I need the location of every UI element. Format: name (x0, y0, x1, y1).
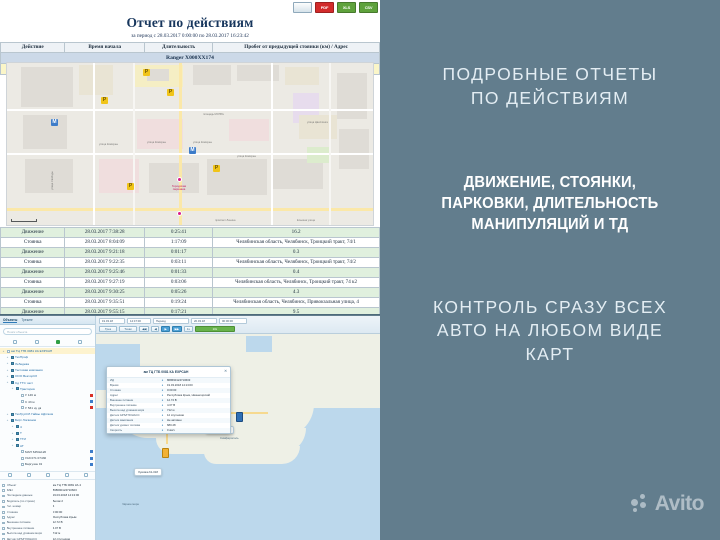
table-row[interactable]: Движение28.03.2017 9:55:150:17:219.5 (1, 308, 380, 315)
property-checkbox[interactable] (2, 484, 5, 487)
tree-node-label[interactable]: МАН 6454к120 (25, 450, 46, 454)
tree-node-label[interactable]: С 43 м (25, 400, 35, 404)
tree-node-label[interactable]: Тестовая компания (15, 368, 43, 372)
screenshot-root: PDF XLS CSV Отчет по действиям за период… (0, 0, 720, 540)
marketing-panel: ПОДРОБНЫЕ ОТЧЕТЫПО ДЕЙСТВИЯМ ДВИЖЕНИЕ, С… (380, 0, 720, 540)
cell-start: 28.03.2017 7:38:28 (65, 228, 145, 238)
cell-address: Челябинская область, Челябинск, Троицкий… (213, 238, 380, 248)
group-icon[interactable] (35, 340, 39, 344)
tree-node-label[interactable]: ТехГрупСб Гайвы АДпгком (15, 412, 53, 416)
cell-start: 28.03.2017 8:04:09 (65, 238, 145, 248)
table-row[interactable]: Движение28.03.2017 7:38:280:25:4116.2 (1, 228, 380, 238)
expand-icon[interactable] (16, 400, 19, 403)
sea-label: Чёрное море (122, 502, 139, 506)
tab-objects[interactable]: Объекты (3, 318, 17, 323)
cell-address: 0.3 (213, 248, 380, 258)
step-back-button[interactable]: ◀ (151, 326, 159, 332)
cell-address: Челябинская область, Челябинск, Троицкий… (213, 278, 380, 288)
status-badge (90, 450, 93, 453)
cell-action: Движение (1, 288, 65, 298)
tree-checkbox[interactable] (21, 450, 24, 453)
cell-address: 16.2 (213, 228, 380, 238)
headline-features: ДВИЖЕНИЕ, СТОЯНКИ,ПАРКОВКИ, ДЛИТЕЛЬНОСТЬ… (442, 172, 659, 235)
cell-duration: 0:03:06 (145, 278, 213, 288)
avito-wordmark: Avito (655, 492, 704, 516)
city-label: Симферополь (220, 436, 239, 440)
tree-checkbox[interactable] (16, 438, 19, 441)
tree-node-label[interactable]: Баргузин 01 (25, 462, 42, 466)
property-checkbox[interactable] (2, 506, 5, 509)
avito-watermark: Avito (631, 492, 704, 516)
object-info-popup[interactable]: ам ТЦ ГТБ 0081 КА ЕХРСАН ✕ ИД●8686901247… (106, 366, 231, 434)
tree-checkbox[interactable] (16, 444, 19, 447)
export-pdf-button[interactable]: PDF (315, 2, 334, 13)
table-row[interactable]: Стоянка28.03.2017 9:27:190:03:06Челябинс… (1, 278, 380, 288)
tree-checkbox[interactable] (21, 394, 24, 397)
property-checkbox[interactable] (2, 522, 5, 525)
cell-action: Движение (1, 248, 65, 258)
tree-node-label[interactable]: ТГИ (20, 437, 26, 441)
expand-icon[interactable] (16, 457, 19, 460)
time-from-input[interactable]: 14:47:00 (127, 318, 151, 324)
tree-checkbox[interactable] (11, 362, 14, 365)
cell-duration: 0:01:17 (145, 248, 213, 258)
expand-icon[interactable]: + (6, 381, 9, 384)
tree-node-label[interactable]: АТ (20, 444, 24, 448)
avito-logo-icon (631, 494, 651, 514)
table-row[interactable]: Стоянка28.03.2017 9:35:510:19:24Челябинс… (1, 298, 380, 308)
status-badge (90, 394, 93, 397)
report-screenshot: PDF XLS CSV Отчет по действиям за период… (0, 0, 380, 315)
cell-address: 0.4 (213, 268, 380, 278)
popup-rows: ИД●868690124710603Время●19.03.2018 14:13… (107, 378, 230, 433)
sidebar-action-toolbar (0, 471, 95, 480)
date-from-input[interactable]: 19.03.18 (99, 318, 125, 324)
cell-address: 4.3 (213, 288, 380, 298)
tree-checkbox[interactable] (11, 356, 14, 359)
column-header-start-time: Время начала (65, 43, 145, 53)
embedded-city-map[interactable]: P P P P P M M площадь МОПРа улица Коммун… (6, 62, 374, 226)
cell-duration: 0:17:21 (145, 308, 213, 315)
headline-maps: КОНТРОЛЬ СРАЗУ ВСЕХАВТО НА ЛЮБОМ ВИДЕКАР… (433, 296, 667, 367)
popup-row: Скорость●0 км/ч (107, 428, 230, 433)
cell-duration: 0:01:33 (145, 268, 213, 278)
status-badge (90, 457, 93, 460)
more-icon[interactable] (84, 473, 88, 477)
cell-duration: 0:25:41 (145, 228, 213, 238)
cell-start: 28.03.2017 9:21:18 (65, 248, 145, 258)
status-badge (90, 463, 93, 466)
tracker-map[interactable]: 19.03.18 14:47:00 Период 20.03.18 00:00:… (96, 316, 380, 540)
cell-start: 28.03.2017 9:25:46 (65, 268, 145, 278)
report-period-subtitle: за период с 28.03.2017 0:00:00 по 28.03.… (0, 31, 380, 42)
search-input[interactable]: Поиск объекта (3, 328, 92, 335)
points-button[interactable]: Точки (119, 326, 137, 332)
tree-node-label[interactable]: ам ТЦ ГТБ 0081 КА ЕХРСАН (11, 349, 52, 353)
tree-checkbox[interactable] (11, 419, 14, 422)
table-header-row: Действие Время начала Длительность Пробе… (1, 43, 380, 53)
tree-node-label[interactable]: Бирт Логвинов (15, 418, 36, 422)
table-row[interactable]: Стоянка28.03.2017 9:22:350:03:11Челябинс… (1, 258, 380, 268)
edit-icon[interactable] (8, 473, 12, 477)
sidebar-icon-row (0, 338, 95, 347)
headline-reports: ПОДРОБНЫЕ ОТЧЕТЫПО ДЕЙСТВИЯМ (443, 63, 658, 110)
tree-node-label[interactable]: ТехПроф (15, 355, 28, 359)
expand-icon[interactable]: + (2, 350, 5, 353)
filter-icon[interactable] (78, 340, 82, 344)
tree-checkbox[interactable] (21, 400, 24, 403)
map-scale-bar (11, 219, 37, 222)
table-row[interactable]: Движение28.03.2017 9:30:250:05:264.3 (1, 288, 380, 298)
table-row[interactable]: Стоянка28.03.2017 8:04:091:17:09Челябинс… (1, 238, 380, 248)
expand-icon[interactable] (16, 406, 19, 409)
cell-duration: 0:19:24 (145, 298, 213, 308)
cell-action: Стоянка (1, 298, 65, 308)
expand-icon[interactable]: + (6, 362, 9, 365)
tree-checkbox[interactable] (11, 413, 14, 416)
close-icon[interactable]: ✕ (224, 369, 227, 373)
expand-icon[interactable]: + (11, 438, 14, 441)
cell-start: 28.03.2017 9:22:35 (65, 258, 145, 268)
tree-node-label[interactable]: Тракторов (20, 387, 35, 391)
vehicle-marker[interactable] (236, 412, 243, 422)
cell-duration: 0:03:11 (145, 258, 213, 268)
popup-title: ам ТЦ ГТБ 0081 КА ЕХРСАН ✕ (107, 367, 230, 378)
vehicle-label-bubble[interactable]: Луковка 61-018 (134, 468, 162, 476)
playback-toolbar: 19.03.18 14:47:00 Период 20.03.18 00:00:… (96, 316, 380, 334)
report-export-toolbar: PDF XLS CSV (293, 1, 378, 14)
tree-checkbox[interactable] (16, 425, 19, 428)
cell-duration: 1:17:09 (145, 238, 213, 248)
cell-start: 28.03.2017 9:55:15 (65, 308, 145, 315)
tree-node[interactable]: Баргузин 01 (0, 461, 95, 467)
status-badge (90, 400, 93, 403)
tree-checkbox[interactable] (7, 350, 10, 353)
speed-1x-button[interactable]: 1x (184, 326, 193, 332)
speed-10x-button[interactable]: 10x (195, 326, 235, 332)
tree-node-label[interactable]: ООО ВекторСХ (15, 374, 37, 378)
print-button[interactable] (293, 2, 312, 13)
table-row[interactable]: Движение28.03.2017 9:21:180:01:170.3 (1, 248, 380, 258)
cell-action: Движение (1, 228, 65, 238)
status-dot-icon: ● (160, 428, 165, 433)
vehicle-marker[interactable] (162, 448, 169, 458)
tree-node-label[interactable]: Т (20, 431, 22, 435)
cell-action: Движение (1, 308, 65, 315)
tree-node-label[interactable]: У 531 ну дв (25, 406, 41, 410)
report-table-continued: Движение28.03.2017 7:38:280:25:4116.2Сто… (0, 227, 380, 315)
cell-action: Движение (1, 268, 65, 278)
play-button[interactable]: ▶ (161, 326, 169, 332)
expand-icon[interactable]: + (6, 419, 9, 422)
export-csv-button[interactable]: CSV (359, 2, 378, 13)
expand-icon[interactable]: + (6, 356, 9, 359)
report-icon[interactable] (65, 473, 69, 477)
cell-action: Стоянка (1, 278, 65, 288)
tree-node-label[interactable]: УАЗ 071 07430 (25, 456, 46, 460)
list-view-icon[interactable] (13, 340, 17, 344)
expand-icon[interactable]: + (11, 425, 14, 428)
time-to-input[interactable]: 00:00:00 (219, 318, 247, 324)
cell-address: 9.5 (213, 308, 380, 315)
column-header-duration: Длительность (145, 43, 213, 53)
cell-start: 28.03.2017 9:30:25 (65, 288, 145, 298)
screenshots-column: PDF XLS CSV Отчет по действиям за период… (0, 0, 380, 540)
column-header-action: Действие (1, 43, 65, 53)
expand-icon[interactable]: + (11, 444, 14, 447)
expand-icon[interactable]: + (11, 432, 14, 435)
column-header-mileage-address: Пробег от предыдущей стоянки (км) / Адре… (213, 43, 380, 53)
tree-checkbox[interactable] (21, 406, 24, 409)
period-preset-select[interactable]: Период (153, 318, 189, 324)
settings-icon[interactable] (46, 473, 50, 477)
date-to-input[interactable]: 20.03.18 (191, 318, 217, 324)
expand-icon[interactable] (16, 463, 19, 466)
popup-value: 0 км/ч (167, 428, 227, 433)
expand-icon[interactable] (16, 450, 19, 453)
expand-icon[interactable]: + (6, 413, 9, 416)
property-checkbox[interactable] (2, 533, 5, 536)
cell-start: 28.03.2017 9:35:51 (65, 298, 145, 308)
expand-icon[interactable] (16, 394, 19, 397)
cell-duration: 0:05:26 (145, 288, 213, 298)
export-xls-button[interactable]: XLS (337, 2, 356, 13)
search-placeholder: Поиск объекта (7, 330, 27, 334)
refresh-icon[interactable] (27, 473, 31, 477)
expand-icon[interactable]: + (11, 387, 14, 390)
property-checkbox[interactable] (2, 489, 5, 492)
show-on-map-icon[interactable] (56, 340, 60, 344)
tree-checkbox[interactable] (16, 432, 19, 435)
tree-checkbox[interactable] (11, 381, 14, 384)
expand-icon[interactable]: + (6, 375, 9, 378)
property-checkbox[interactable] (2, 516, 5, 519)
expand-icon[interactable]: + (6, 369, 9, 372)
object-properties-panel: Объектам ТЦ ГТБ 0081 КА 4IMEI86869012471… (0, 480, 95, 540)
tree-checkbox[interactable] (11, 369, 14, 372)
cell-address: Челябинская область, Челябинск, Привокза… (213, 298, 380, 308)
popup-key: Скорость (110, 428, 158, 433)
tree-node-label[interactable]: У 146 м (25, 393, 36, 397)
tree-node-label[interactable]: Лебедева (15, 362, 29, 366)
table-row[interactable]: Движение28.03.2017 9:25:460:01:330.4 (1, 268, 380, 278)
tree-node-label[interactable]: Сд ТТС част (15, 381, 33, 385)
track-button[interactable]: Трек (99, 326, 117, 332)
property-checkbox[interactable] (2, 500, 5, 503)
property-checkbox[interactable] (2, 495, 5, 498)
tree-checkbox[interactable] (21, 457, 24, 460)
rewind-button[interactable]: ◀◀ (139, 326, 149, 332)
tracker-sidebar: Объекты Трекинг Поиск объекта +ам ТЦ ГТБ… (0, 316, 96, 540)
object-tree[interactable]: +ам ТЦ ГТБ 0081 КА ЕХРСАН+ТехПроф+Лебеде… (0, 347, 95, 469)
property-checkbox[interactable] (2, 527, 5, 530)
tab-tracking[interactable]: Трекинг (21, 318, 32, 322)
tracking-app-screenshot: Объекты Трекинг Поиск объекта +ам ТЦ ГТБ… (0, 316, 380, 540)
property-checkbox[interactable] (2, 511, 5, 514)
cell-start: 28.03.2017 9:27:19 (65, 278, 145, 288)
sidebar-tabs: Объекты Трекинг (0, 316, 95, 325)
cell-action: Стоянка (1, 238, 65, 248)
forward-button[interactable]: ▶▶ (172, 326, 182, 332)
tree-checkbox[interactable] (16, 387, 19, 390)
cell-address: Челябинская область, Челябинск, Троицкий… (213, 258, 380, 268)
tree-node-label[interactable]: 4 (20, 425, 22, 429)
cell-action: Стоянка (1, 258, 65, 268)
tree-checkbox[interactable] (11, 375, 14, 378)
tree-checkbox[interactable] (21, 463, 24, 466)
status-badge (90, 406, 93, 409)
